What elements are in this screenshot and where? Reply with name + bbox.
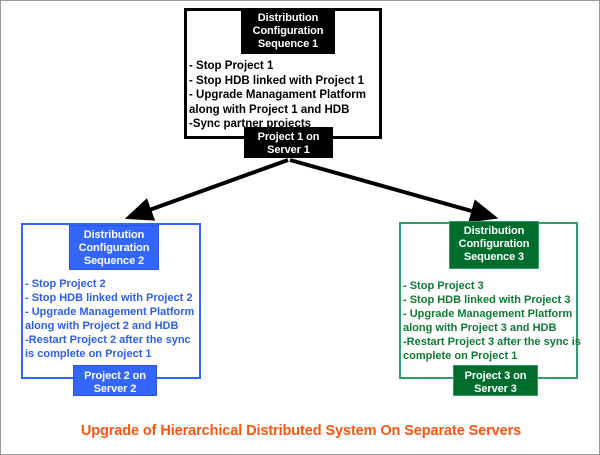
node-right-footer-chip: Project 3 on Server 3 bbox=[453, 365, 538, 396]
connector-root-to-left bbox=[130, 160, 288, 217]
node-left-steps: - Stop Project 2 - Stop HDB linked with … bbox=[25, 277, 203, 362]
diagram-canvas: - Stop Project 1 - Stop HDB linked with … bbox=[0, 0, 600, 455]
connector-root-to-right bbox=[290, 160, 493, 217]
node-root-header-chip: Distribution Configuration Sequence 1 bbox=[241, 9, 335, 54]
node-right-steps: - Stop Project 3 - Stop HDB linked with … bbox=[403, 279, 581, 364]
node-right-header-chip: Distribution Configuration Sequence 3 bbox=[449, 221, 539, 269]
node-root-footer-chip: Project 1 on Server 1 bbox=[244, 127, 333, 158]
node-left-header-chip: Distribution Configuration Sequence 2 bbox=[69, 225, 159, 270]
diagram-caption: Upgrade of Hierarchical Distributed Syst… bbox=[1, 423, 600, 439]
node-root-steps: - Stop Project 1 - Stop HDB linked with … bbox=[189, 59, 381, 132]
node-left-footer-chip: Project 2 on Server 2 bbox=[73, 365, 157, 396]
